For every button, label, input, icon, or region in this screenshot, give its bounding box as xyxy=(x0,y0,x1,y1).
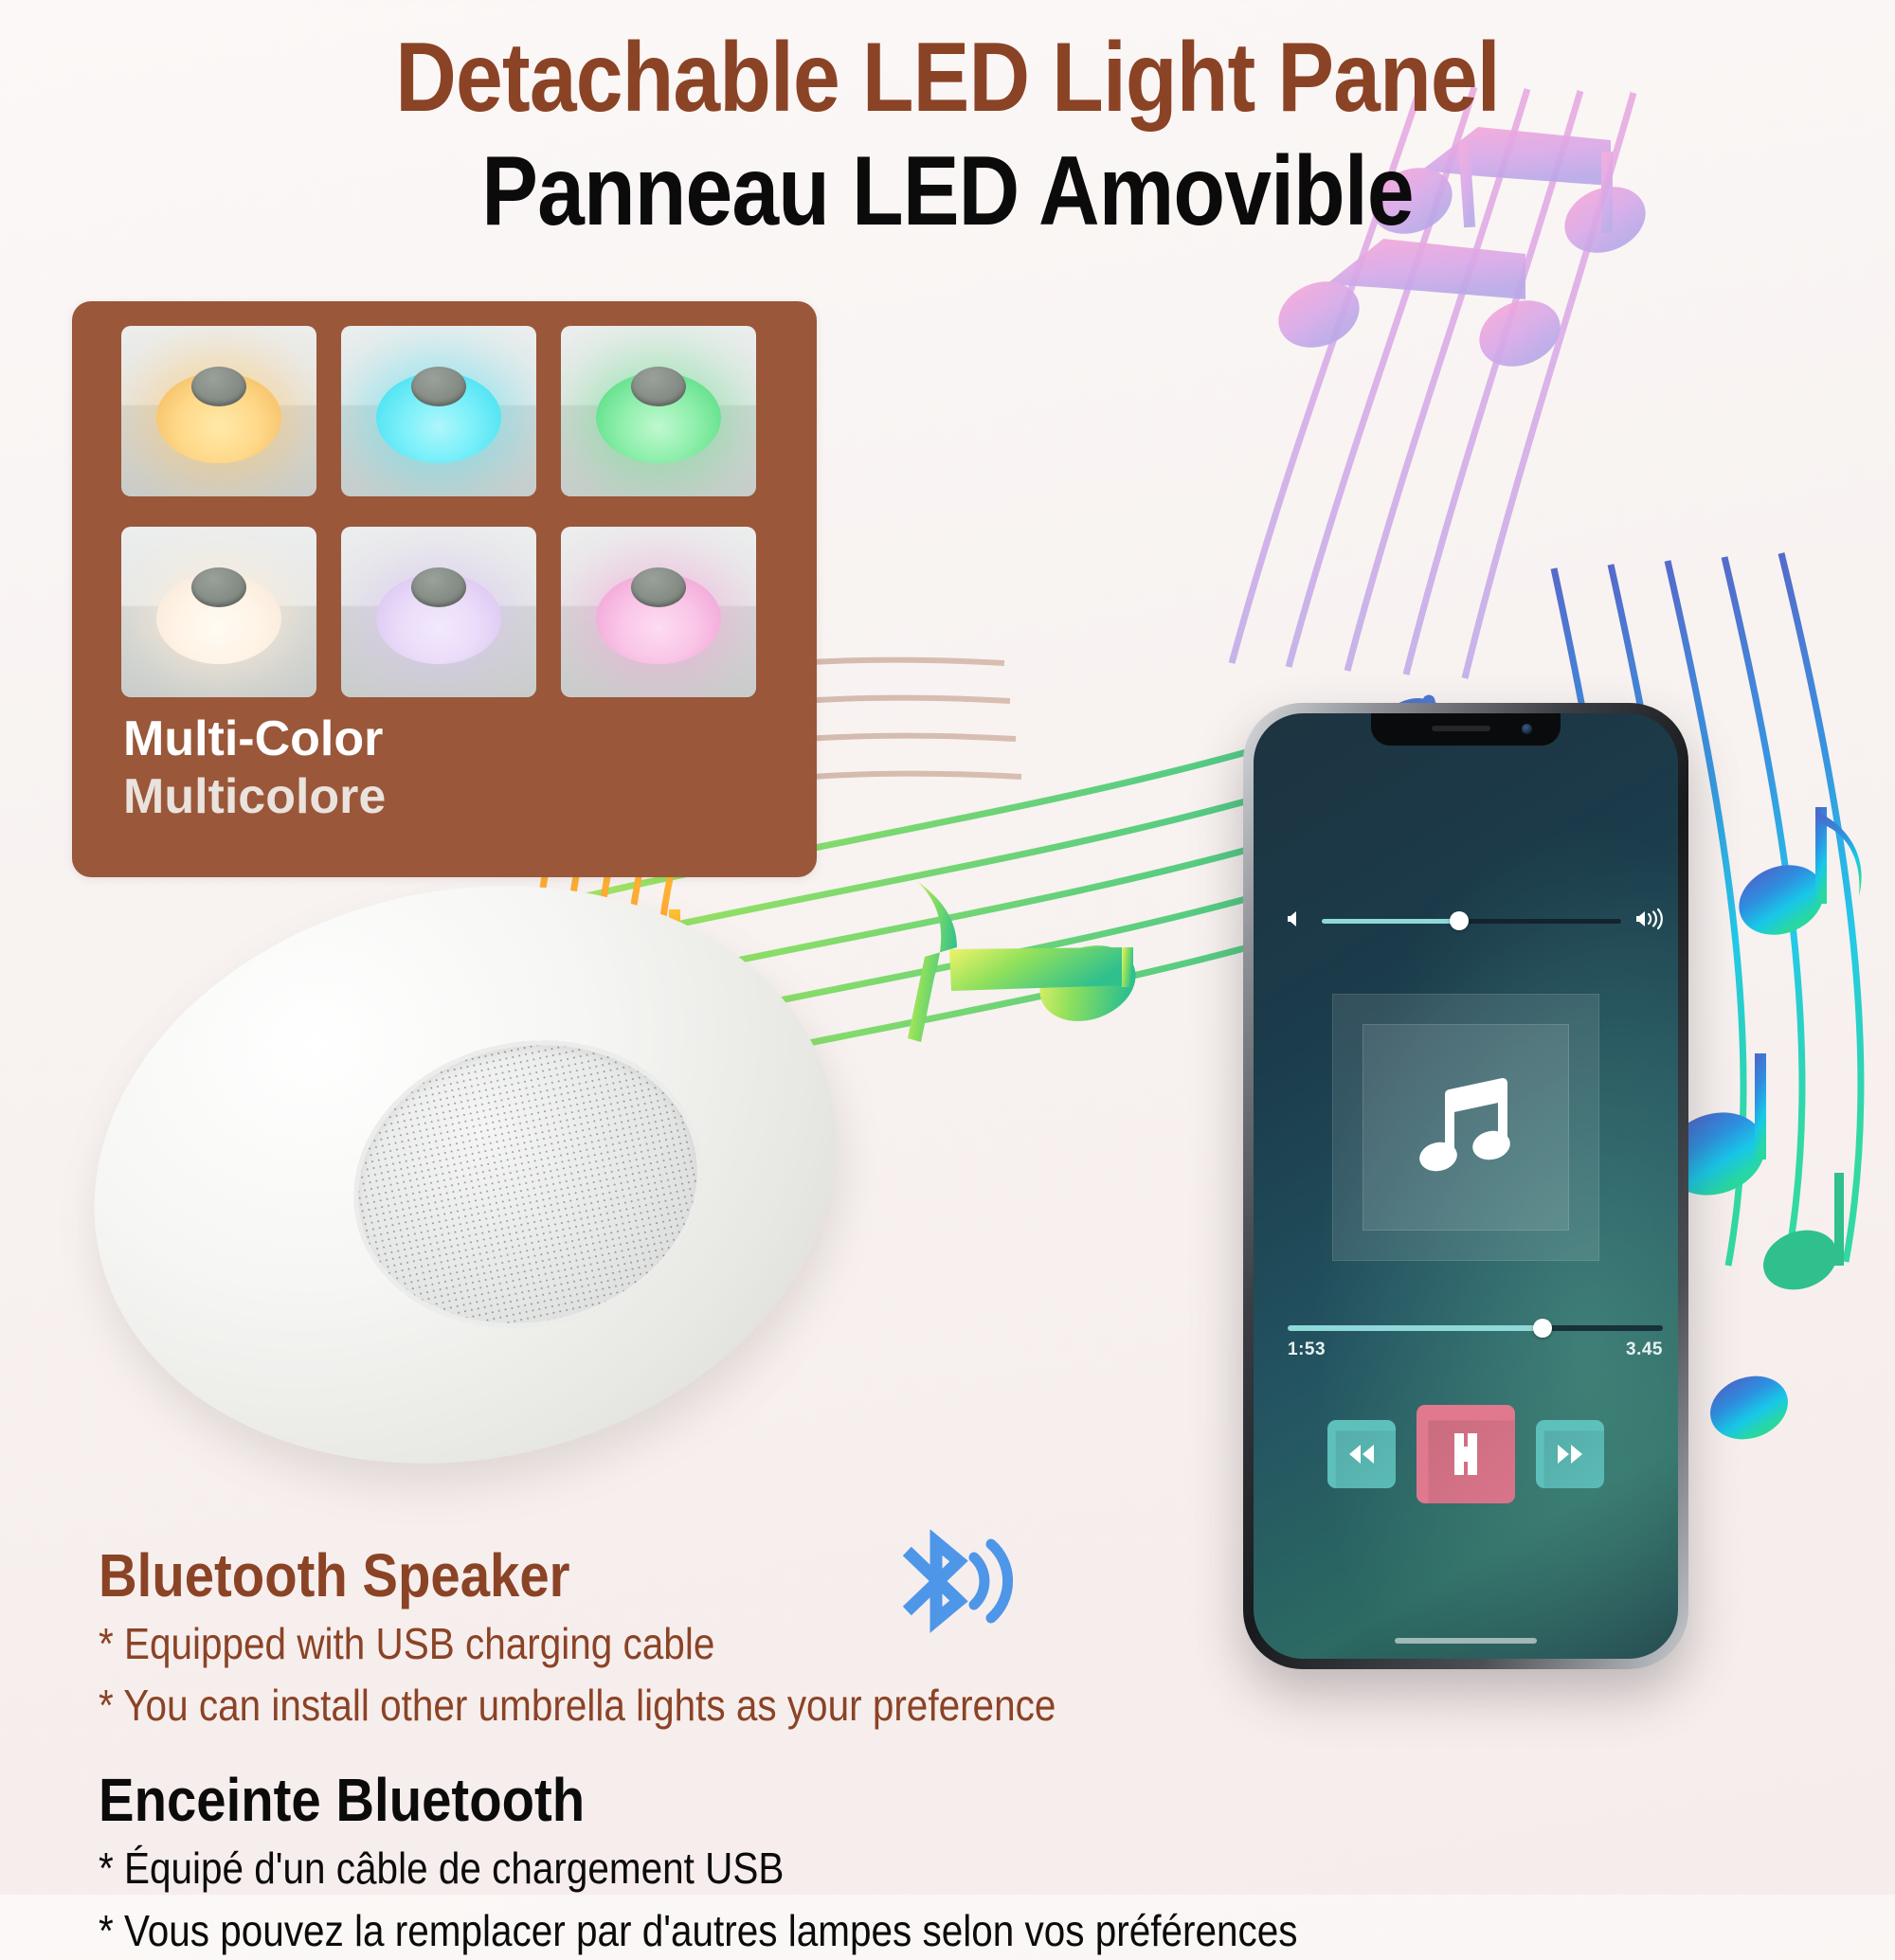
panel-label-french: Multicolore xyxy=(123,768,386,826)
bluetooth-bullet-en-1: * Equipped with USB charging cable xyxy=(99,1616,1349,1673)
progress-knob[interactable] xyxy=(1533,1319,1552,1338)
color-swatch-cyan[interactable] xyxy=(341,326,536,496)
front-camera-icon xyxy=(1522,724,1532,734)
lamp-glow-pink xyxy=(596,573,721,664)
forward-icon xyxy=(1551,1441,1589,1467)
color-swatch-green[interactable] xyxy=(561,326,756,496)
color-swatch-warm-white[interactable] xyxy=(121,326,316,496)
progress-times: 1:53 3.45 xyxy=(1288,1340,1663,1360)
color-swatch-pink[interactable] xyxy=(561,527,756,697)
title-french: Panneau LED Amovible xyxy=(133,136,1762,246)
lamp-glow-lavender xyxy=(376,573,501,664)
color-swatch-lavender[interactable] xyxy=(341,527,536,697)
panel-label-english: Multi-Color xyxy=(123,710,386,768)
bluetooth-heading-english: Bluetooth Speaker xyxy=(99,1542,1349,1610)
panel-label-block: Multi-Color Multicolore xyxy=(123,710,386,827)
progress-track[interactable] xyxy=(1288,1325,1663,1331)
earpiece-speaker xyxy=(1432,726,1490,731)
bluetooth-bullet-fr-2: * Vous pouvez la remplacer par d'autres … xyxy=(99,1903,1349,1960)
lamp-glow-warm-white xyxy=(156,372,281,463)
color-swatch-grid xyxy=(121,326,767,697)
lamp-glow-green xyxy=(596,372,721,463)
phone-screen[interactable]: 1:53 3.45 xyxy=(1254,713,1678,1659)
bluetooth-bullet-en-2: * You can install other umbrella lights … xyxy=(99,1678,1349,1735)
volume-track[interactable] xyxy=(1322,919,1621,924)
volume-fill xyxy=(1322,919,1459,924)
music-note-icon xyxy=(1416,1073,1516,1182)
smartphone-mockup: 1:53 3.45 xyxy=(1243,703,1688,1669)
progress-fill xyxy=(1288,1325,1543,1331)
product-infographic: Detachable LED Light Panel Panneau LED A… xyxy=(0,0,1895,1895)
bluetooth-speaker-product xyxy=(91,890,839,1459)
phone-notch xyxy=(1371,713,1561,746)
feature-copy-block: Bluetooth Speaker * Equipped with USB ch… xyxy=(99,1542,1520,1960)
speaker-high-icon xyxy=(1634,908,1667,935)
duration-time: 3.45 xyxy=(1626,1340,1663,1360)
forward-button[interactable] xyxy=(1536,1420,1604,1488)
bluetooth-heading-french: Enceinte Bluetooth xyxy=(99,1767,1349,1835)
album-art-inner xyxy=(1363,1024,1569,1231)
volume-slider-row[interactable] xyxy=(1286,908,1667,933)
playback-progress[interactable]: 1:53 3.45 xyxy=(1288,1325,1663,1360)
color-swatch-soft-cream[interactable] xyxy=(121,527,316,697)
pause-button[interactable] xyxy=(1417,1405,1515,1503)
rewind-icon xyxy=(1343,1441,1381,1467)
lamp-glow-cyan xyxy=(376,372,501,463)
multicolor-panel: Multi-Color Multicolore xyxy=(72,301,817,877)
bluetooth-bullet-fr-1: * Équipé d'un câble de chargement USB xyxy=(99,1841,1349,1897)
pause-icon xyxy=(1449,1431,1483,1477)
headline-block: Detachable LED Light Panel Panneau LED A… xyxy=(0,27,1895,247)
speaker-low-icon xyxy=(1286,908,1308,934)
lamp-glow-soft-cream xyxy=(156,573,281,664)
title-english: Detachable LED Light Panel xyxy=(133,27,1762,129)
album-art-frame xyxy=(1332,994,1599,1261)
elapsed-time: 1:53 xyxy=(1288,1340,1326,1360)
rewind-button[interactable] xyxy=(1327,1420,1396,1488)
volume-knob[interactable] xyxy=(1450,911,1469,930)
playback-controls xyxy=(1254,1405,1678,1503)
